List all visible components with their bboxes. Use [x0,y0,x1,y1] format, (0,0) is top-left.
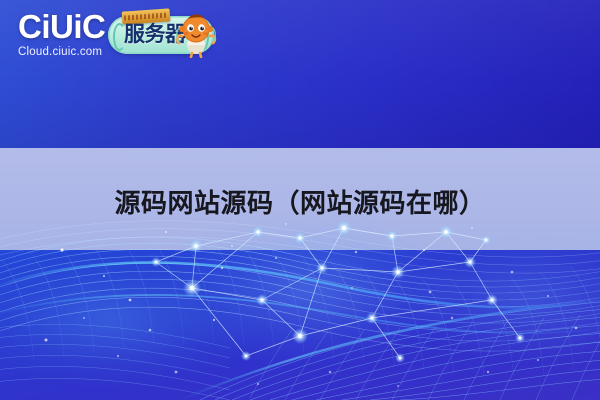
mascot-icon [174,12,218,58]
network-constellation [156,228,520,358]
server-badge[interactable]: 服务器 [108,16,214,54]
particle-sparkles [45,223,578,387]
banner-image: CiUiC Cloud.ciuic.com 服务器 [0,0,600,400]
page-title: 源码网站源码（网站源码在哪） [0,186,600,220]
logo-subtitle: Cloud.ciuic.com [18,46,128,59]
